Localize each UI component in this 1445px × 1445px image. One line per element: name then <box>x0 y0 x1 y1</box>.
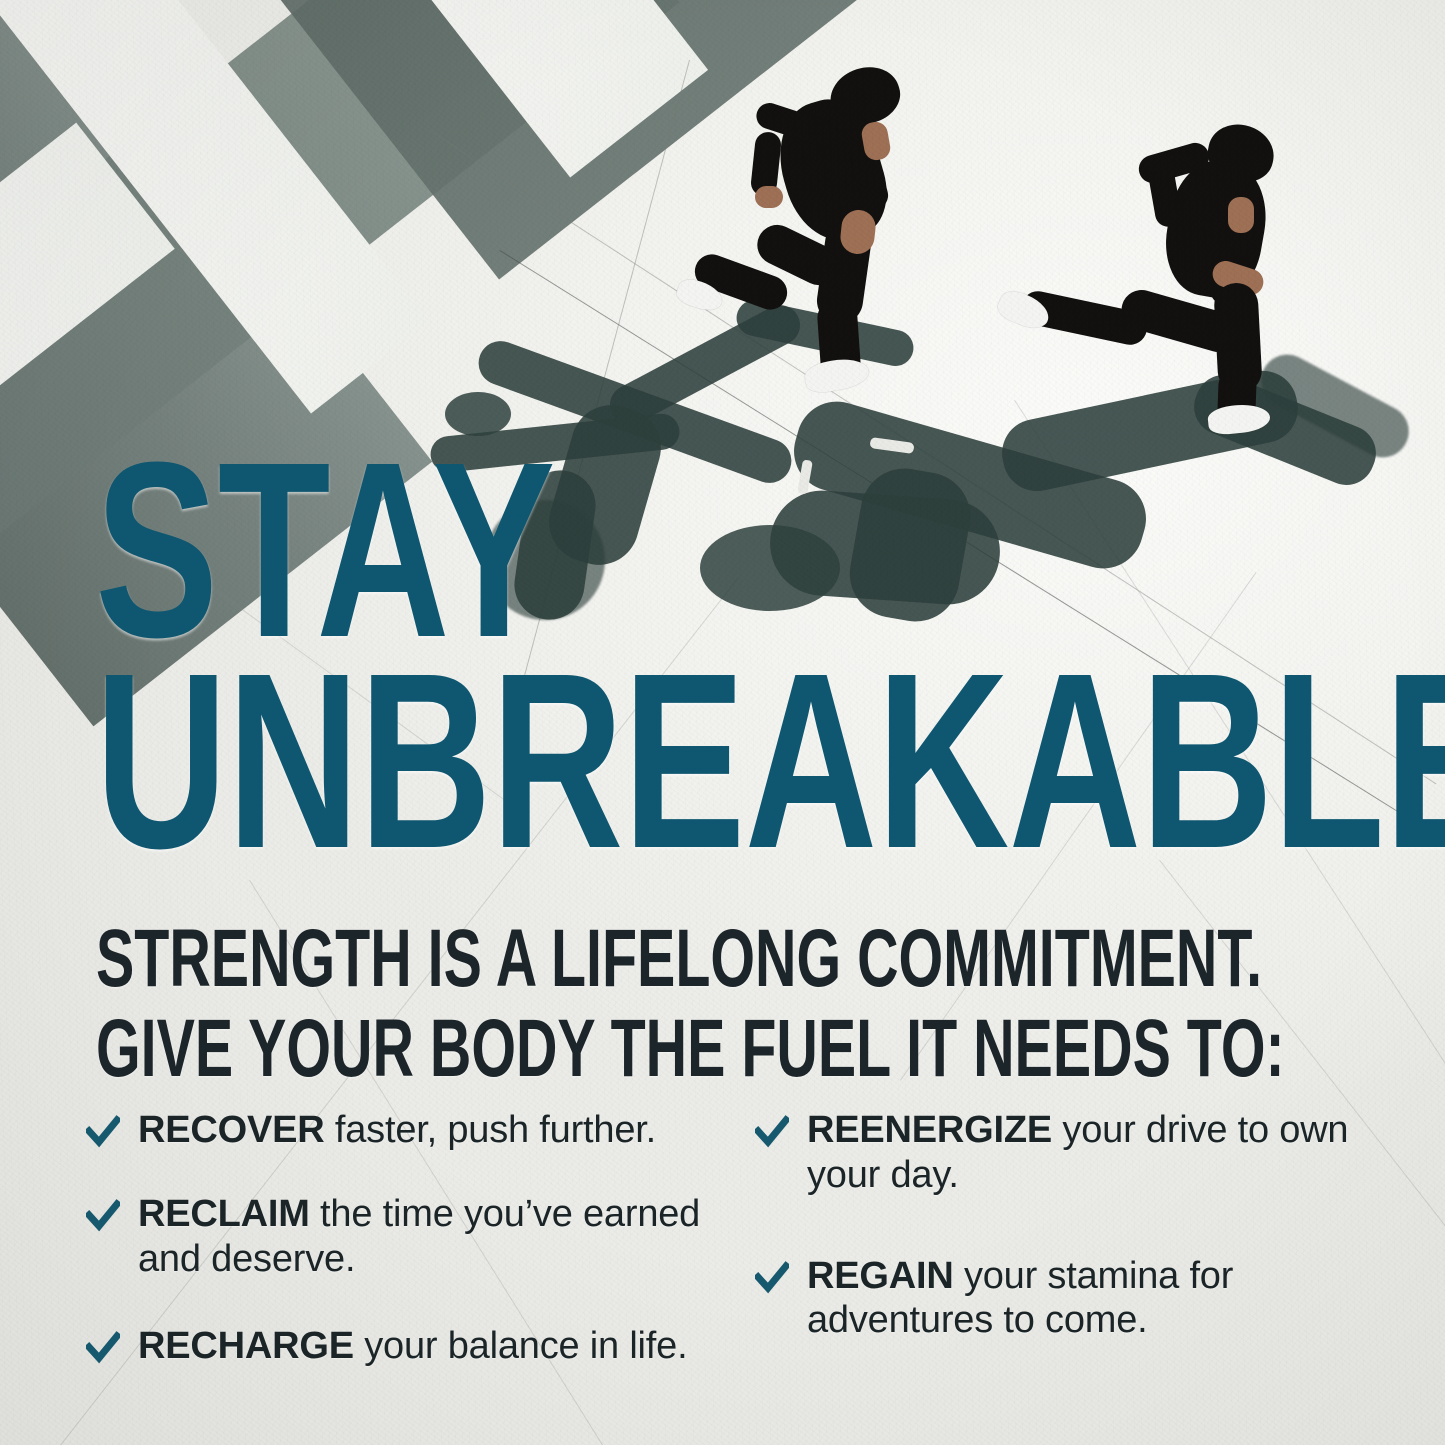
check-icon <box>86 1198 120 1238</box>
subheading-line-2: GIVE YOUR BODY THE FUEL IT NEEDS TO: <box>96 1008 1285 1090</box>
benefit-keyword: REENERGIZE <box>807 1109 1052 1151</box>
benefit-keyword: RECLAIM <box>138 1193 310 1235</box>
headline-line-1: STAY <box>95 452 1445 647</box>
check-icon <box>86 1330 120 1370</box>
benefit-text: RECHARGE your balance in life. <box>138 1324 687 1369</box>
check-icon <box>755 1114 789 1154</box>
benefit-text: RECLAIM the time you’ve earned and deser… <box>138 1192 717 1282</box>
benefit-text: REGAIN your stamina for adventures to co… <box>807 1254 1386 1344</box>
benefits-list: RECOVER faster, push further. RECLAIM th… <box>86 1108 1386 1400</box>
list-item: RECOVER faster, push further. <box>86 1108 717 1154</box>
benefit-text: REENERGIZE your drive to own your day. <box>807 1108 1386 1198</box>
benefit-keyword: RECOVER <box>138 1109 325 1151</box>
benefit-text: RECOVER faster, push further. <box>138 1108 656 1153</box>
poster-content: STAY UNBREAKABLE STRENGTH IS A LIFELONG … <box>0 0 1445 1445</box>
check-icon <box>755 1260 789 1300</box>
benefits-column-right: REENERGIZE your drive to own your day. R… <box>755 1108 1386 1400</box>
check-icon <box>86 1114 120 1154</box>
list-item: RECHARGE your balance in life. <box>86 1324 717 1370</box>
list-item: RECLAIM the time you’ve earned and deser… <box>86 1192 717 1282</box>
benefit-rest: faster, push further. <box>325 1109 656 1151</box>
benefit-keyword: REGAIN <box>807 1255 954 1297</box>
subheading-line-1: STRENGTH IS A LIFELONG COMMITMENT. <box>96 918 1285 1000</box>
benefit-rest: your balance in life. <box>354 1325 688 1367</box>
list-item: REGAIN your stamina for adventures to co… <box>755 1254 1386 1344</box>
benefits-column-left: RECOVER faster, push further. RECLAIM th… <box>86 1108 717 1400</box>
page-title: STAY UNBREAKABLE <box>95 452 1445 858</box>
subheading: STRENGTH IS A LIFELONG COMMITMENT. GIVE … <box>96 918 1445 1090</box>
list-item: REENERGIZE your drive to own your day. <box>755 1108 1386 1198</box>
headline-line-2: UNBREAKABLE <box>95 663 1445 858</box>
benefit-keyword: RECHARGE <box>138 1325 354 1367</box>
promotional-poster: STAY UNBREAKABLE STRENGTH IS A LIFELONG … <box>0 0 1445 1445</box>
